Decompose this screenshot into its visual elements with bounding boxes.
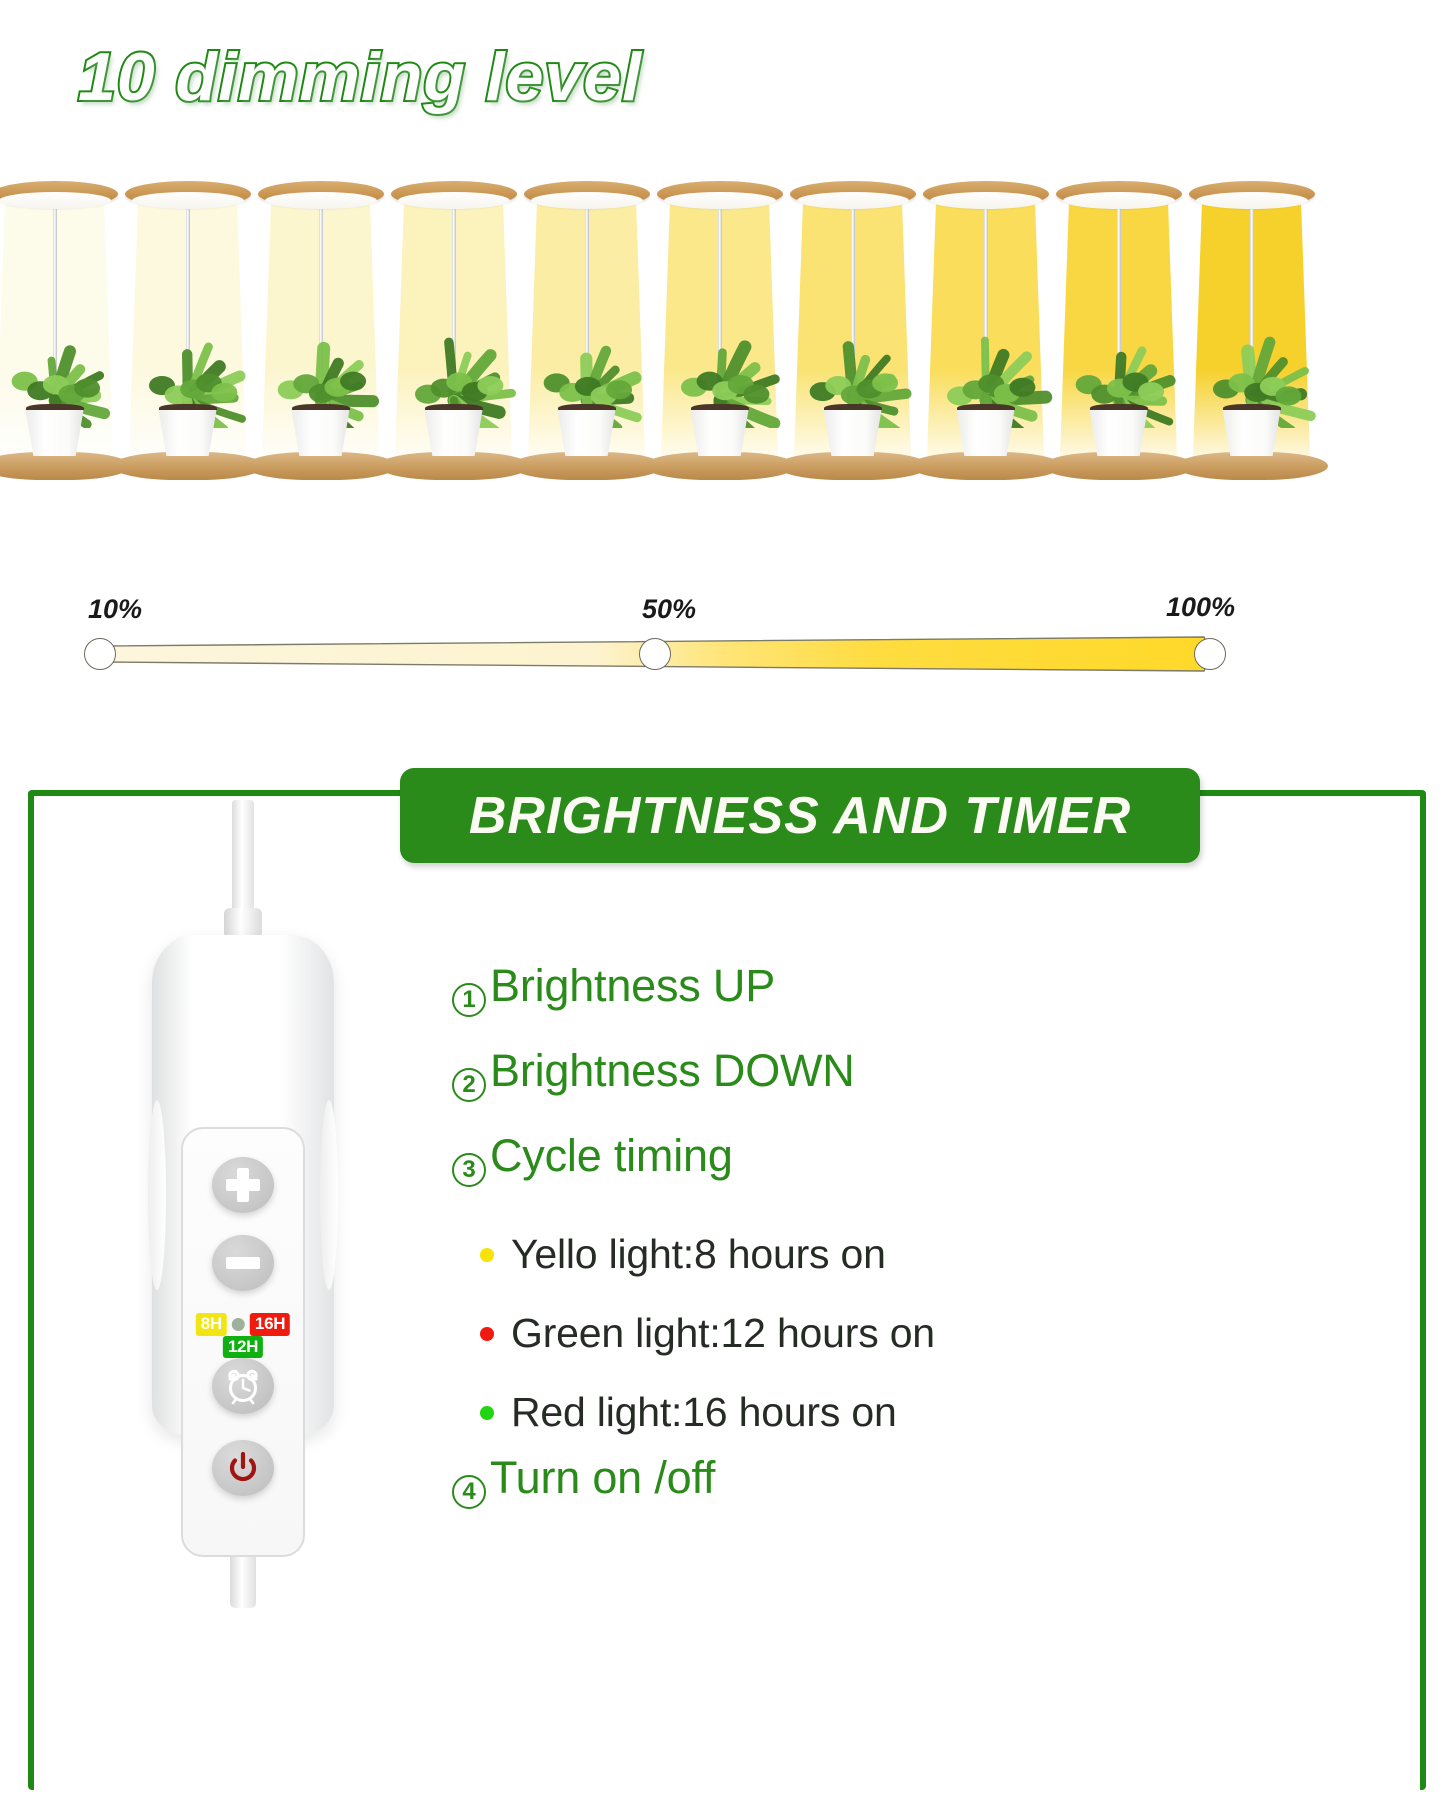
lamp-led-panel [664,192,776,209]
timer-led-row: 8H 16H [196,1313,290,1336]
lamp-led-panel [398,192,510,209]
lamp-unit [254,175,387,480]
slider-label-mid: 50% [642,594,696,625]
instruction-item: 3Cycle timing [452,1130,1352,1209]
plus-icon [226,1168,260,1202]
lamp-unit [1185,175,1318,480]
page-title: 10 dimming level [78,38,642,116]
controller-body: 8H 16H 12H [152,935,334,1435]
instruction-label: Turn on /off [490,1452,715,1504]
instruction-label: Cycle timing [490,1130,733,1182]
cycle-timing-button[interactable] [212,1358,274,1414]
lamp-base [644,452,796,480]
instruction-label: Brightness UP [490,960,775,1012]
timer-bullet-item: Red light:16 hours on [452,1373,1352,1452]
instruction-list: 1Brightness UP2Brightness DOWN3Cycle tim… [452,960,1352,1537]
lamp-led-panel [797,192,909,209]
brightness-down-button[interactable] [212,1235,274,1291]
body-highlight-right [320,1100,338,1290]
lamp-base [777,452,929,480]
lamp-unit [1052,175,1185,480]
status-dot-icon [232,1318,245,1331]
lamp-base [112,452,264,480]
lamp-led-panel [0,192,111,209]
bullet-dot-icon [480,1406,494,1420]
lamp-base [511,452,663,480]
lamp-unit [0,175,121,480]
instruction-item: 4Turn on /off [452,1452,1352,1531]
slider-handle-50[interactable] [639,638,671,670]
instruction-number: 3 [452,1153,486,1187]
lamp-led-panel [132,192,244,209]
bullet-dot-icon [480,1327,494,1341]
section-banner-title: BRIGHTNESS AND TIMER [469,786,1131,846]
lamp-base [1043,452,1195,480]
timer-bullet-item: Yello light:8 hours on [452,1215,1352,1294]
lamp-led-panel [930,192,1042,209]
lamp-led-panel [531,192,643,209]
instruction-item: 2Brightness DOWN [452,1045,1352,1124]
lamp-unit [786,175,919,480]
brightness-up-button[interactable] [212,1157,274,1213]
lamp-base [910,452,1062,480]
slider-handle-100[interactable] [1194,638,1226,670]
timer-bullet-item: Green light:12 hours on [452,1294,1352,1373]
instruction-label: Brightness DOWN [490,1045,855,1097]
led-indicator-8h: 8H [196,1313,227,1336]
led-indicator-12h: 12H [223,1336,263,1358]
timer-bullet-label: Yello light:8 hours on [511,1231,886,1278]
timer-led-row-secondary: 12H [223,1337,263,1357]
body-highlight-left [148,1100,166,1290]
instruction-number: 4 [452,1475,486,1509]
alarm-clock-icon [223,1366,263,1406]
section-banner: BRIGHTNESS AND TIMER [400,768,1200,863]
led-indicator-16h: 16H [250,1313,290,1336]
slider-label-max: 100% [1166,592,1235,623]
lamp-unit [919,175,1052,480]
timer-bullet-label: Green light:12 hours on [511,1310,935,1357]
slider-handle-10[interactable] [84,638,116,670]
dimming-level-lamp-row [0,175,1445,480]
brightness-slider[interactable]: 10% 50% 100% [0,580,1445,690]
timer-bullet-label: Red light:16 hours on [511,1389,897,1436]
minus-icon [226,1257,260,1269]
power-icon [226,1451,260,1485]
instruction-number: 2 [452,1068,486,1102]
lamp-unit [520,175,653,480]
slider-label-min: 10% [88,594,142,625]
lamp-led-panel [1196,192,1308,209]
power-button[interactable] [212,1440,274,1496]
instruction-number: 1 [452,983,486,1017]
lamp-base [1176,452,1328,480]
lamp-base [245,452,397,480]
instruction-item: 1Brightness UP [452,960,1352,1039]
cord-strain-relief [224,908,262,938]
lamp-led-panel [1063,192,1175,209]
lamp-unit [653,175,786,480]
lamp-base [378,452,530,480]
lamp-led-panel [265,192,377,209]
controller-device: 8H 16H 12H [128,800,358,1800]
lamp-unit [121,175,254,480]
bullet-dot-icon [480,1248,494,1262]
power-cord-top [232,800,254,920]
lamp-unit [387,175,520,480]
